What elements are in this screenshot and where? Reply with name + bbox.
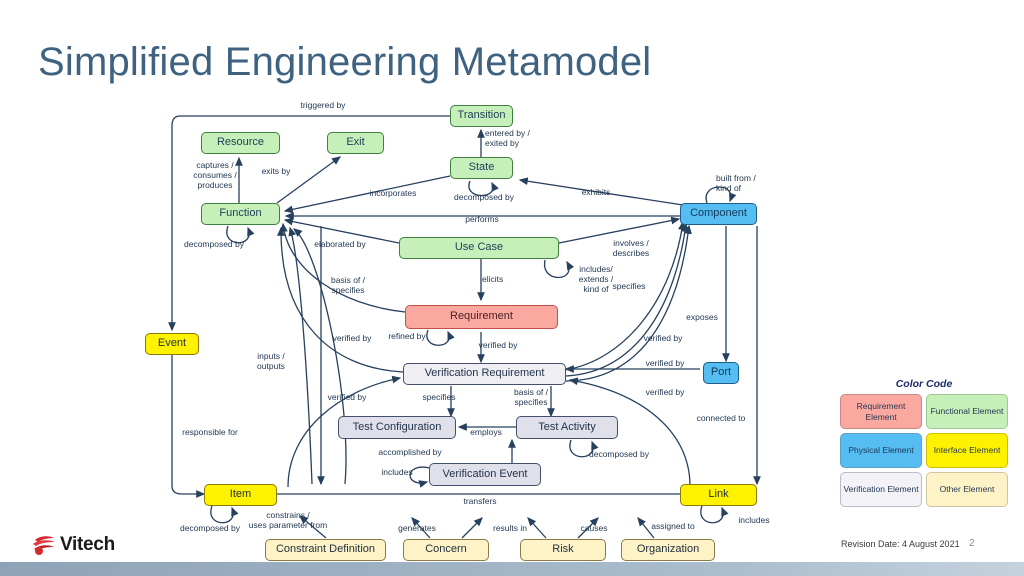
node-label: Concern [425, 544, 467, 556]
legend-item-label: Interface Element [934, 445, 1001, 455]
node-label: Test Activity [538, 422, 595, 434]
node-use-case[interactable]: Use Case [399, 237, 559, 259]
logo-text: Vitech [60, 534, 115, 556]
node-requirement[interactable]: Requirement [405, 305, 558, 329]
node-risk[interactable]: Risk [520, 539, 606, 561]
node-organization[interactable]: Organization [621, 539, 715, 561]
node-resource[interactable]: Resource [201, 132, 280, 154]
legend-item-interface-element: Interface Element [926, 433, 1008, 468]
node-label: Constraint Definition [276, 544, 375, 556]
node-label: Resource [217, 137, 264, 149]
node-verification-event[interactable]: Verification Event [429, 463, 541, 486]
node-label: Risk [552, 544, 573, 556]
node-label: Function [219, 208, 261, 220]
node-state[interactable]: State [450, 157, 513, 179]
node-test-configuration[interactable]: Test Configuration [338, 416, 456, 439]
node-transition[interactable]: Transition [450, 105, 513, 127]
legend-item-other-element: Other Element [926, 472, 1008, 507]
node-item[interactable]: Item [204, 484, 277, 506]
color-code-legend: Color Code Requirement Element Functiona… [840, 378, 1008, 507]
legend-item-label: Physical Element [848, 445, 913, 455]
node-label: Event [158, 338, 186, 350]
vitech-logo: Vitech [32, 534, 115, 556]
node-event[interactable]: Event [145, 333, 199, 355]
node-label: Link [708, 489, 728, 501]
node-label: Exit [346, 137, 364, 149]
slide-canvas: Simplified Engineering Metamodel [0, 0, 1024, 576]
legend-item-functional-element: Functional Element [926, 394, 1008, 429]
legend-item-label: Functional Element [931, 406, 1004, 416]
legend-item-physical-element: Physical Element [840, 433, 922, 468]
node-constraint-definition[interactable]: Constraint Definition [265, 539, 386, 561]
footer-bar [0, 562, 1024, 576]
node-test-activity[interactable]: Test Activity [516, 416, 618, 439]
revision-date: Revision Date: 4 August 2021 [841, 539, 960, 549]
node-function[interactable]: Function [201, 203, 280, 225]
node-component[interactable]: Component [680, 203, 757, 225]
node-label: State [469, 162, 495, 174]
legend-item-requirement-element: Requirement Element [840, 394, 922, 429]
node-exit[interactable]: Exit [327, 132, 384, 154]
node-label: Use Case [455, 242, 503, 254]
node-verification-requirement[interactable]: Verification Requirement [403, 363, 566, 385]
node-link[interactable]: Link [680, 484, 757, 506]
legend-title: Color Code [840, 378, 1008, 390]
node-label: Item [230, 489, 251, 501]
node-concern[interactable]: Concern [403, 539, 489, 561]
page-number: 2 [969, 538, 975, 549]
node-label: Test Configuration [353, 422, 442, 434]
legend-item-label: Requirement Element [841, 401, 921, 421]
node-label: Requirement [450, 311, 513, 323]
legend-item-label: Verification Element [843, 484, 918, 494]
node-label: Transition [458, 110, 506, 122]
legend-item-label: Other Element [940, 484, 995, 494]
node-label: Organization [637, 544, 699, 556]
node-port[interactable]: Port [703, 362, 739, 384]
legend-grid: Requirement Element Functional Element P… [840, 394, 1008, 507]
node-label: Verification Event [443, 469, 528, 481]
node-label: Verification Requirement [425, 368, 545, 380]
node-label: Port [711, 367, 731, 379]
legend-item-verification-element: Verification Element [840, 472, 922, 507]
vitech-swoosh-icon [32, 534, 58, 556]
node-label: Component [690, 208, 747, 220]
